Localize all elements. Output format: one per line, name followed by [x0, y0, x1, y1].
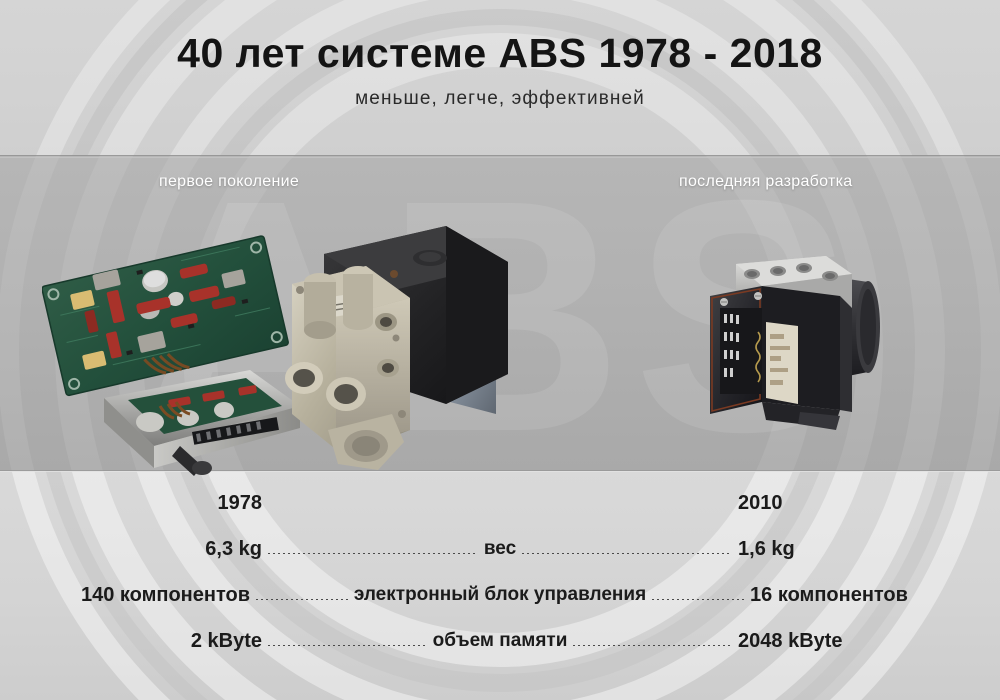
memory-left-value: 2 kByte: [0, 630, 262, 653]
page-subtitle: меньше, легче, эффективней: [0, 88, 1000, 110]
caption-latest-development: последняя разработка: [679, 173, 852, 191]
background-band-top: [0, 0, 1000, 156]
comparison-row-memory: 2 kByte объем памяти 2048 kByte: [0, 624, 1000, 658]
year-leader-right: [506, 507, 732, 508]
components-leader-right: [652, 599, 744, 600]
weight-center-label: вес: [484, 538, 516, 560]
caption-first-generation: первое поколение: [159, 173, 299, 191]
memory-leader-right: [573, 645, 732, 646]
memory-center-label: объем памяти: [433, 630, 568, 652]
components-left-value: 140 компонентов: [0, 584, 250, 607]
weight-leader-left: [268, 553, 478, 554]
photo-hydraulic-modulator: [282, 218, 552, 480]
band-divider-top-highlight: [0, 157, 1000, 158]
components-right-value: 16 компонентов: [750, 584, 1000, 607]
comparison-row-weight: 6,3 kg вес 1,6 kg: [0, 532, 1000, 566]
infographic-poster: ABS ABS ABS: [0, 0, 1000, 700]
page-title: 40 лет системе ABS 1978 - 2018: [0, 30, 1000, 77]
band-divider-top: [0, 155, 1000, 156]
comparison-row-components: 140 компонентов электронный блок управле…: [0, 578, 1000, 612]
weight-right-value: 1,6 kg: [738, 538, 1000, 561]
weight-left-value: 6,3 kg: [0, 538, 262, 561]
components-center-label: электронный блок управления: [354, 584, 646, 606]
memory-leader-left: [268, 645, 427, 646]
comparison-table: 1978 2010 6,3 kg вес 1,6 kg 140 компонен…: [0, 470, 1000, 700]
year-right-value: 2010: [738, 492, 1000, 515]
comparison-row-year: 1978 2010: [0, 486, 1000, 520]
components-leader-left: [256, 599, 348, 600]
photo-latest-generation: [700, 252, 895, 442]
year-leader-left: [268, 507, 494, 508]
memory-right-value: 2048 kByte: [738, 630, 1000, 653]
year-left-value: 1978: [0, 492, 262, 515]
weight-leader-right: [522, 553, 732, 554]
